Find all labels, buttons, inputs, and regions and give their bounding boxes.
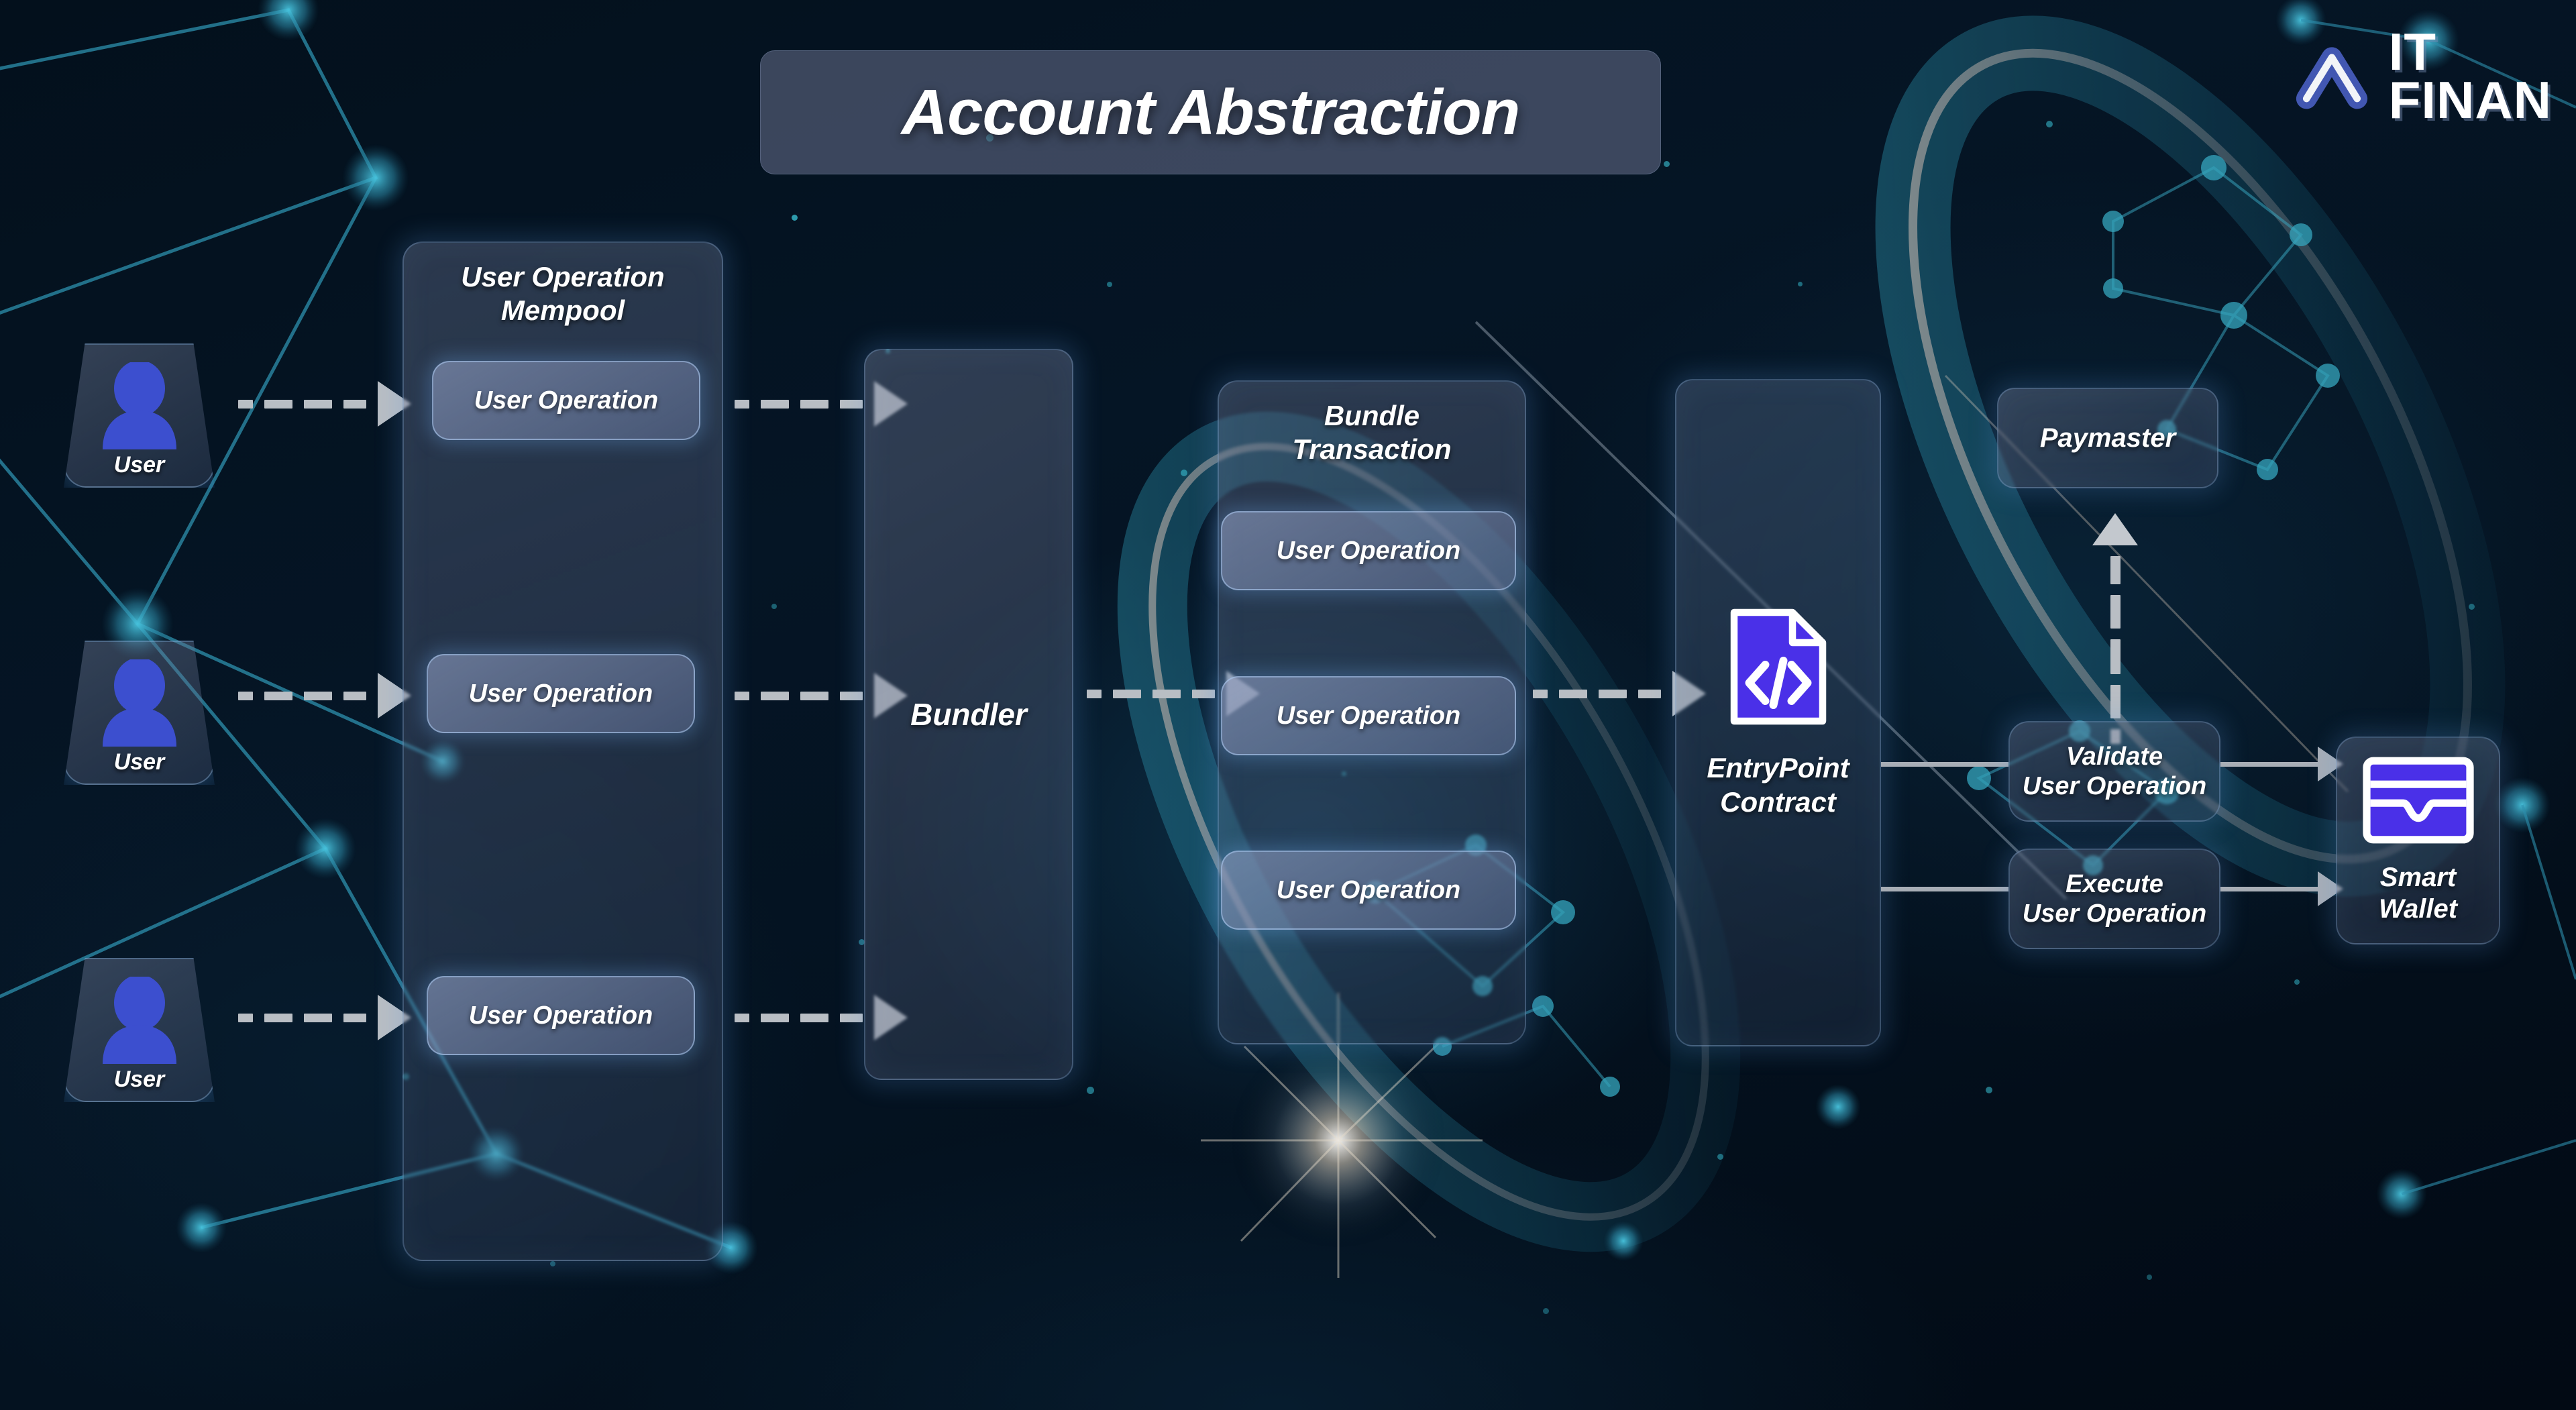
paymaster-panel[interactable]: Paymaster <box>1997 388 2218 488</box>
mempool-operation-2[interactable]: User Operation <box>427 654 695 733</box>
bundler-panel[interactable]: Bundler <box>864 349 1073 1080</box>
user-avatar-icon <box>100 977 179 1064</box>
bundle-operation-3[interactable]: User Operation <box>1221 851 1516 930</box>
bundle-operation-2-label: User Operation <box>1277 702 1461 730</box>
user-card-2[interactable]: User <box>64 641 215 785</box>
user-card-3[interactable]: User <box>64 958 215 1102</box>
user-card-2-label: User <box>114 749 165 775</box>
diagram-canvas: Account Abstraction IT FINAN User User <box>0 0 2576 1410</box>
bundle-title-line-1: Bundle <box>1226 399 1518 433</box>
line-execute-to-wallet <box>2220 887 2321 891</box>
arrow-user2-to-mempool <box>238 673 411 718</box>
execute-label-line-2: User Operation <box>2023 899 2207 928</box>
execute-label-line-1: Execute <box>2065 869 2163 899</box>
brand-line-1: IT <box>2389 28 2552 76</box>
arrow-validate-to-paymaster <box>2092 513 2138 744</box>
smart-wallet-label: Smart Wallet <box>2379 862 2457 925</box>
execute-user-operation-panel[interactable]: Execute User Operation <box>2008 849 2220 949</box>
smart-wallet-label-line-1: Smart <box>2379 862 2457 893</box>
validate-label-line-1: Validate <box>2066 742 2163 771</box>
code-document-icon <box>1728 606 1829 727</box>
smart-wallet-panel[interactable]: Smart Wallet <box>2336 737 2500 944</box>
arrow-user3-to-mempool <box>238 995 411 1040</box>
user-avatar-icon <box>100 362 179 449</box>
user-avatar-icon <box>100 659 179 747</box>
line-validate-to-wallet <box>2220 762 2321 767</box>
arrow-user1-to-mempool <box>238 381 411 427</box>
mempool-title-line-1: User Operation <box>411 260 715 294</box>
entrypoint-label-line-2: Contract <box>1707 785 1849 819</box>
mempool-operation-1[interactable]: User Operation <box>432 361 700 440</box>
user-card-1-label: User <box>114 452 165 478</box>
line-entrypoint-to-execute <box>1881 887 2008 891</box>
entrypoint-label-line-1: EntryPoint <box>1707 751 1849 785</box>
bundle-operation-2[interactable]: User Operation <box>1221 676 1516 755</box>
brand-logo-text: IT FINAN <box>2389 28 2552 125</box>
chevron-logo-icon <box>2292 37 2371 116</box>
mempool-operation-3[interactable]: User Operation <box>427 976 695 1055</box>
brand-line-2: FINAN <box>2389 76 2552 125</box>
mempool-operation-2-label: User Operation <box>469 680 653 708</box>
smart-wallet-label-line-2: Wallet <box>2379 893 2457 925</box>
line-entrypoint-to-validate <box>1881 762 2008 767</box>
mempool-operation-3-label: User Operation <box>469 1001 653 1030</box>
mempool-title-line-2: Mempool <box>411 294 715 327</box>
page-title-text: Account Abstraction <box>902 76 1520 150</box>
bundle-operation-3-label: User Operation <box>1277 876 1461 905</box>
mempool-operation-1-label: User Operation <box>474 386 659 415</box>
bundle-title-line-2: Transaction <box>1226 433 1518 466</box>
bundle-operation-1[interactable]: User Operation <box>1221 511 1516 590</box>
page-title: Account Abstraction <box>760 50 1661 174</box>
mempool-title: User Operation Mempool <box>404 243 722 327</box>
bundle-title: Bundle Transaction <box>1219 382 1525 466</box>
user-card-1[interactable]: User <box>64 343 215 488</box>
entrypoint-label: EntryPoint Contract <box>1707 751 1849 819</box>
wallet-icon <box>2362 756 2475 845</box>
validate-user-operation-panel[interactable]: Validate User Operation <box>2008 721 2220 822</box>
entrypoint-contract-panel[interactable]: EntryPoint Contract <box>1675 379 1881 1046</box>
paymaster-label: Paymaster <box>2040 423 2176 453</box>
brand-logo: IT FINAN <box>2292 28 2552 125</box>
user-card-3-label: User <box>114 1067 165 1093</box>
bundler-label: Bundler <box>910 696 1027 733</box>
bundle-operation-1-label: User Operation <box>1277 537 1461 565</box>
validate-label-line-2: User Operation <box>2023 771 2207 801</box>
